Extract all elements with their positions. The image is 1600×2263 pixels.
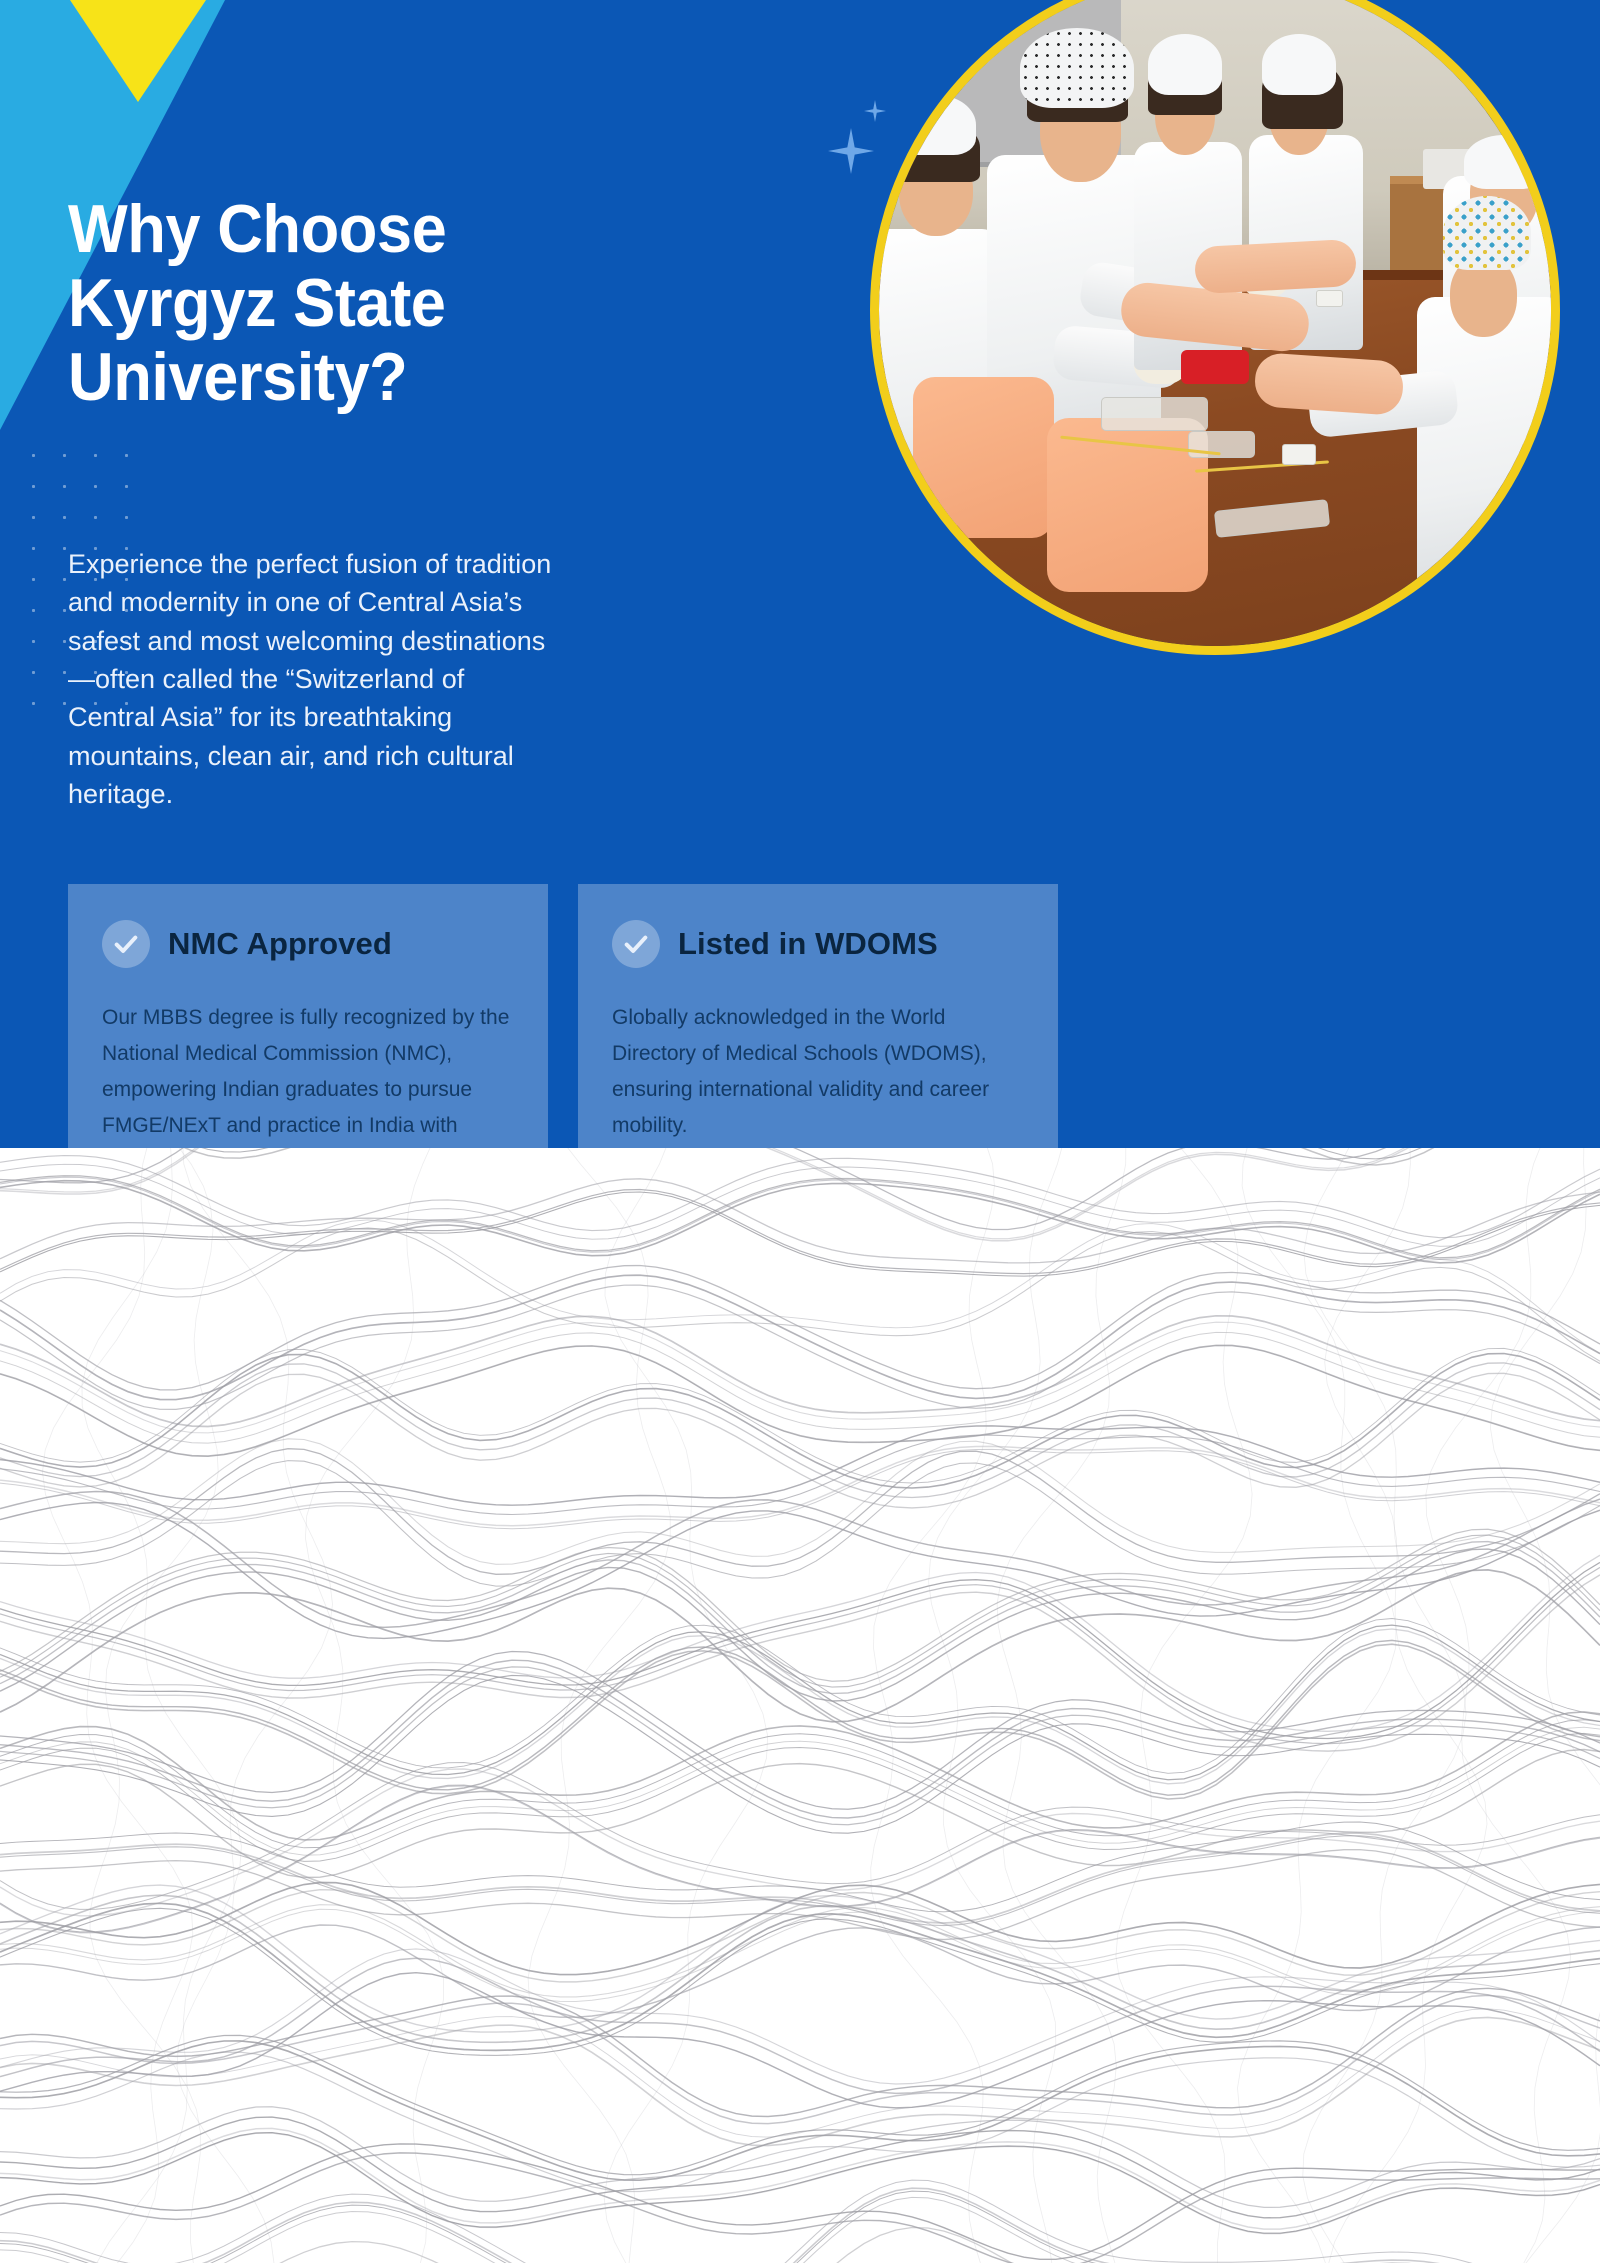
features-section: English Medium Program Seamless learning… — [0, 1148, 1600, 2263]
check-circle-icon — [612, 920, 660, 968]
yellow-triangle-shape — [70, 0, 206, 102]
wave-pattern-background — [0, 1148, 1600, 2263]
badge-header: NMC Approved — [102, 920, 514, 968]
badge-card-wdoms[interactable]: Listed in WDOMS Globally acknowledged in… — [578, 884, 1058, 1148]
badge-body: Globally acknowledged in the World Direc… — [612, 1000, 1024, 1144]
badge-title: NMC Approved — [168, 926, 392, 962]
hero-photo — [870, 0, 1560, 655]
photo-scene — [879, 0, 1551, 646]
check-circle-icon — [102, 920, 150, 968]
badge-card-nmc[interactable]: NMC Approved Our MBBS degree is fully re… — [68, 884, 548, 1148]
badge-title: Listed in WDOMS — [678, 926, 938, 962]
badge-header: Listed in WDOMS — [612, 920, 1024, 968]
page-title: Why Choose Kyrgyz State University? — [68, 192, 663, 414]
hero-subtitle: Experience the perfect fusion of traditi… — [68, 545, 558, 813]
photo-gold-ring — [870, 0, 1560, 655]
badge-body: Our MBBS degree is fully recognized by t… — [102, 1000, 514, 1148]
hero-section: Why Choose Kyrgyz State University? Expe… — [0, 0, 1600, 1148]
sparkle-icon — [828, 128, 874, 174]
